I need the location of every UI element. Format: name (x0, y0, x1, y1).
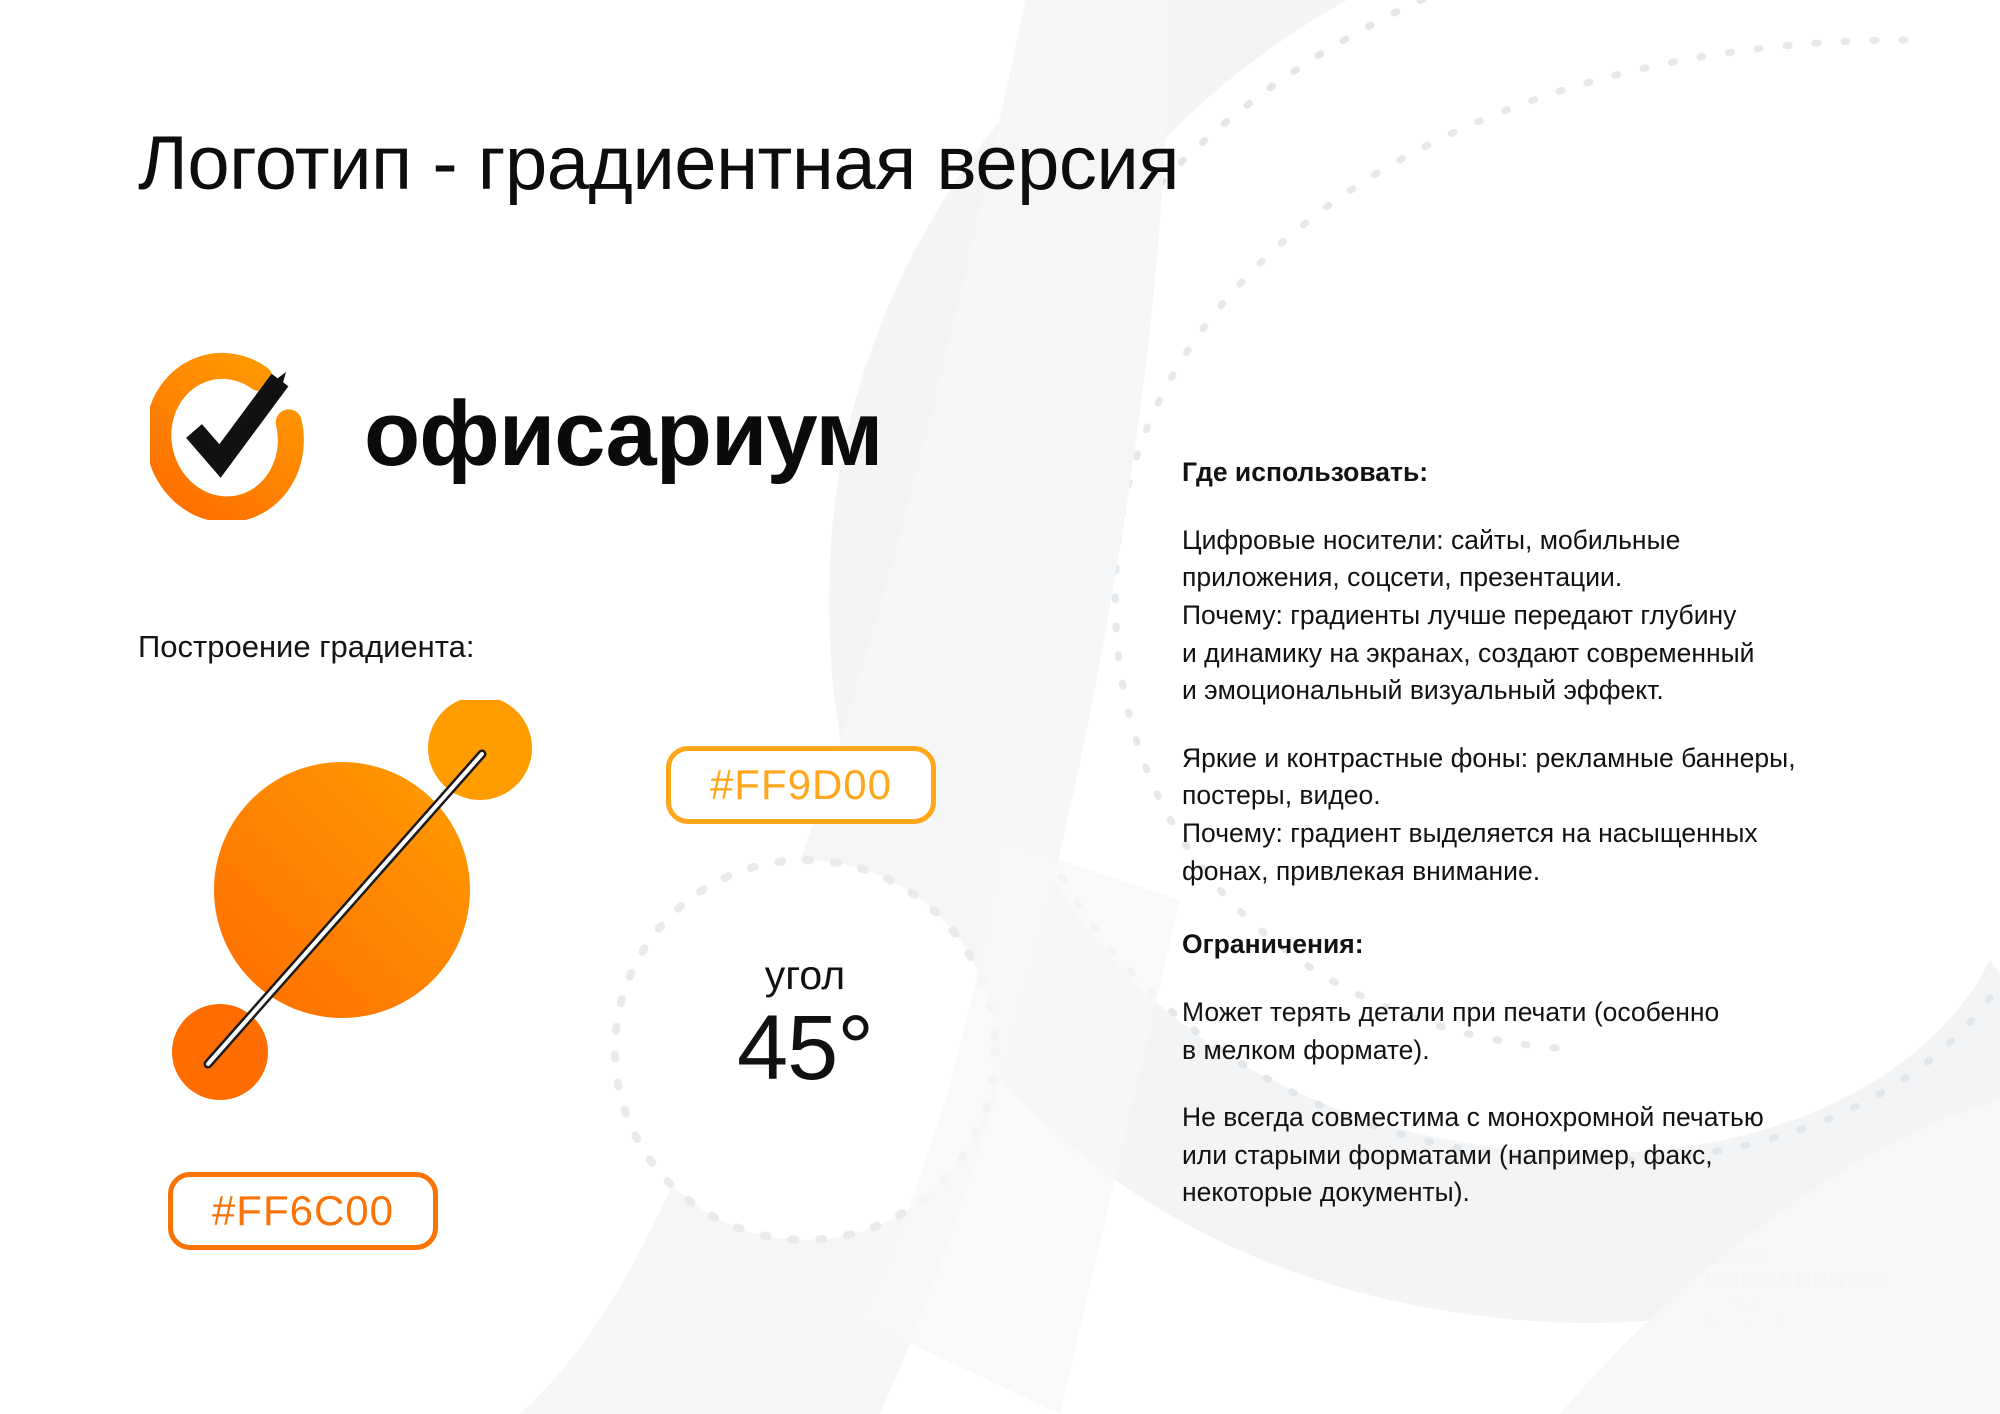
limits-paragraph-mono: Не всегда совместима с монохромной печат… (1182, 1099, 1882, 1212)
usage-paragraph-digital: Цифровые носители: сайты, мобильные прил… (1182, 522, 1882, 710)
limits-paragraph-print: Может терять детали при печати (особенно… (1182, 994, 1882, 1069)
watermark-line-2: DOBOSHENKO (1704, 1268, 1883, 1292)
watermark: SD STAS DOBOSHENKO дизайнер presentation (1614, 1244, 1883, 1332)
gradient-stop-bottom-chip[interactable]: #FF6C00 (168, 1172, 438, 1250)
usage-copy-column: Где использовать: Цифровые носители: сай… (1182, 454, 1882, 1212)
gradient-center-node (214, 762, 470, 1018)
gradient-stop-top-chip[interactable]: #FF9D00 (666, 746, 936, 824)
circle-check-logo-icon (150, 348, 318, 520)
usage-paragraph-bright: Яркие и контрастные фоны: рекламные банн… (1182, 740, 1882, 891)
gradient-angle-callout: угол 45° (690, 955, 920, 1094)
watermark-line-3: дизайнер (1704, 1298, 1883, 1315)
page-title: Логотип - градиентная версия (138, 126, 1179, 202)
gradient-angle-label: угол (690, 955, 920, 996)
slide-canvas: Логотип - градиентная версия офисариум П… (0, 0, 2000, 1414)
watermark-sd-icon: SD (1614, 1244, 1688, 1292)
usage-heading: Где использовать: (1182, 454, 1882, 492)
logo-wordmark: офисариум (364, 388, 882, 480)
gradient-section-label: Построение градиента: (138, 629, 475, 665)
gradient-angle-value: 45° (690, 1002, 920, 1094)
watermark-line-4: presentation (1704, 1315, 1883, 1332)
limits-heading: Ограничения: (1182, 926, 1882, 964)
watermark-line-1: STAS (1704, 1244, 1883, 1268)
logo-lockup: офисариум (150, 348, 882, 520)
watermark-text: STAS DOBOSHENKO дизайнер presentation (1704, 1244, 1883, 1332)
